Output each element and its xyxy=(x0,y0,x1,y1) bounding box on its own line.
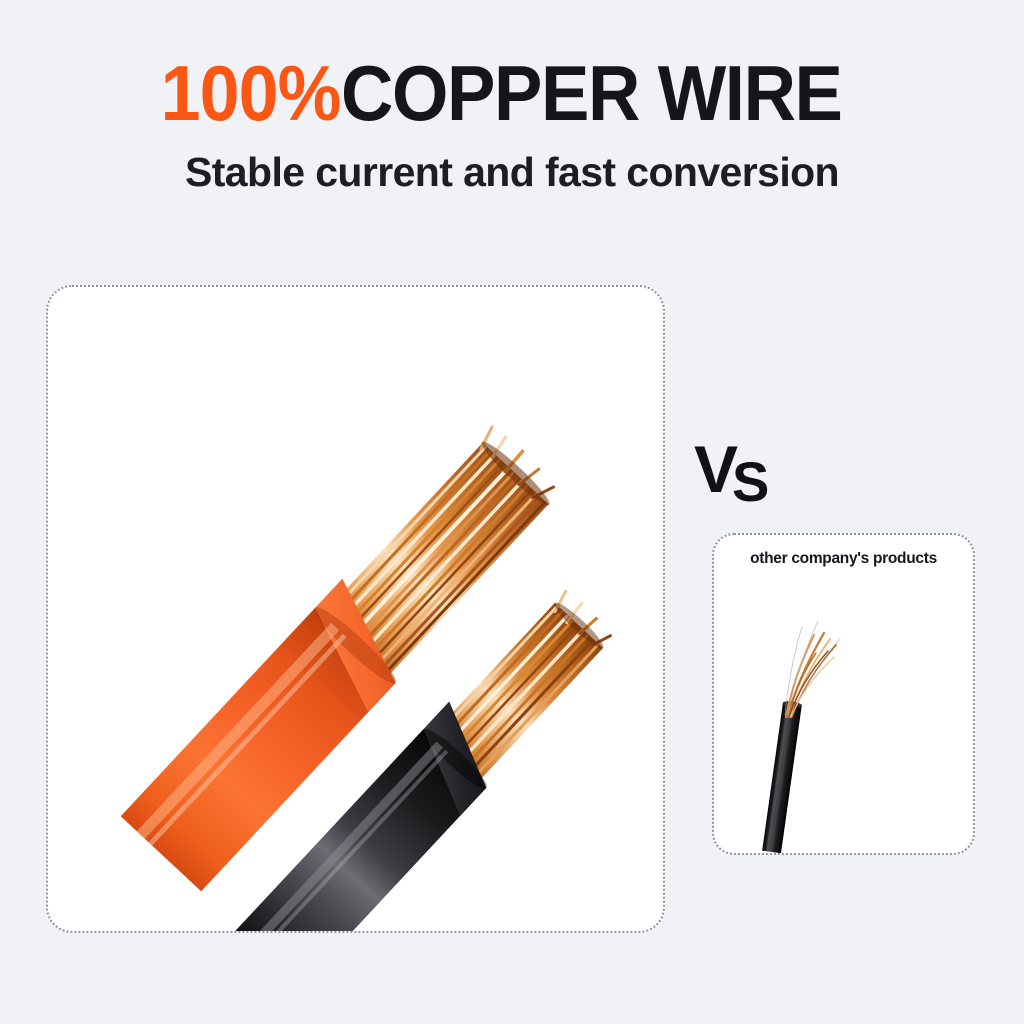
thin-copper-strands xyxy=(785,621,840,717)
headline-percent: 100% xyxy=(161,54,341,132)
headline-main: COPPER WIRE xyxy=(341,54,842,132)
header: 100%COPPER WIRE Stable current and fast … xyxy=(0,0,1024,230)
main-product-panel xyxy=(46,285,665,933)
copper-cable-illustration xyxy=(48,287,665,933)
page-title: 100%COPPER WIRE xyxy=(0,54,1024,132)
competitor-product-panel: other company's products xyxy=(712,533,975,855)
vs-letter-v: V xyxy=(694,436,735,502)
vs-letter-s: S xyxy=(732,454,769,510)
thin-wire-illustration xyxy=(714,535,975,855)
page-subtitle: Stable current and fast conversion xyxy=(0,152,1024,193)
thin-black-jacket xyxy=(762,700,802,853)
vs-badge: V S xyxy=(694,440,804,520)
